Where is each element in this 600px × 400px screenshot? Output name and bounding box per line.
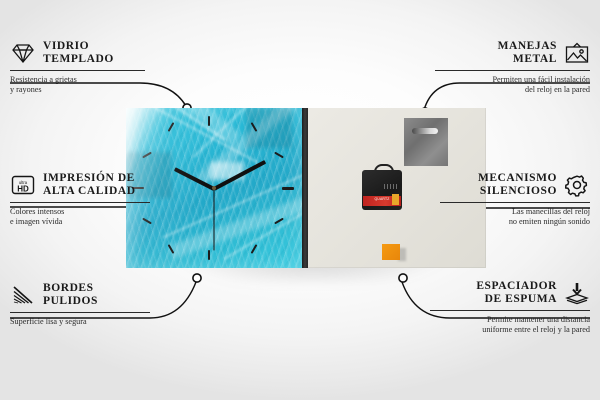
feature-title-line1: BORDES — [43, 282, 94, 294]
feature-title-line2: TEMPLADO — [43, 53, 114, 65]
feature-title-line2: ALTA CALIDAD — [43, 185, 136, 197]
mechanism-vents — [384, 184, 398, 189]
feature-vidrio-templado: VIDRIO TEMPLADO Resistencia a grietas y … — [10, 40, 145, 96]
feature-title-line1: MANEJAS — [498, 40, 557, 52]
feature-desc-line2: y rayones — [10, 85, 42, 94]
clock-second-hand — [214, 189, 215, 251]
feature-title-line2: PULIDOS — [43, 295, 98, 307]
feature-desc-line2: uniforme entre el reloj y la pared — [482, 325, 590, 334]
clock-center-cap — [212, 186, 216, 190]
feature-desc-line2: no emiten ningún sonido — [509, 217, 590, 226]
feature-desc-line1: Resistencia a grietas — [10, 75, 77, 84]
product-infographic: QUARTZ VIDRIO TEMPLADO Resistencia a — [0, 0, 600, 400]
feature-manejas-metal: MANEJAS METAL Permiten una fácil instala… — [435, 40, 590, 96]
polished-edges-icon — [10, 283, 36, 307]
feature-desc-line1: Colores intensos — [10, 207, 64, 216]
diamond-icon — [10, 41, 36, 65]
picture-hanger-icon — [564, 41, 590, 65]
feature-desc-line2: del reloj en la pared — [525, 85, 590, 94]
product-image: QUARTZ — [126, 108, 488, 274]
feature-desc-line1: Permiten una fácil instalación — [492, 75, 590, 84]
feature-title-line2: METAL — [513, 53, 557, 65]
mechanism-battery-chip — [392, 194, 399, 205]
feature-title-line1: VIDRIO — [43, 40, 89, 52]
foam-spacer — [382, 244, 400, 260]
metal-hanger-plate — [404, 118, 448, 166]
feature-divider — [10, 202, 150, 203]
foam-spacer-icon — [564, 281, 590, 305]
feature-title-line2: DE ESPUMA — [485, 293, 557, 305]
hanger-slot — [412, 128, 438, 134]
feature-bordes-pulidos: BORDES PULIDOS Superficie lisa y segura — [10, 282, 150, 327]
feature-divider — [435, 70, 590, 71]
feature-desc-line1: Permite mantener una distancia — [487, 315, 590, 324]
clock-face — [126, 108, 302, 268]
feature-divider — [430, 310, 590, 311]
feature-impresion-alta-calidad: ultra HD IMPRESIÓN DE ALTA CALIDAD Color… — [10, 172, 150, 228]
svg-text:HD: HD — [17, 184, 29, 193]
feature-divider — [440, 202, 590, 203]
feature-mecanismo-silencioso: MECANISMO SILENCIOSO Las manecillas del … — [440, 172, 590, 228]
feature-desc-line1: Superficie lisa y segura — [10, 317, 87, 326]
feature-divider — [10, 70, 145, 71]
gear-icon — [564, 173, 590, 197]
feature-title-line2: SILENCIOSO — [480, 185, 557, 197]
feature-title-line1: MECANISMO — [478, 172, 557, 184]
feature-title-line1: ESPACIADOR — [476, 280, 557, 292]
feature-desc-line2: e imagen vívida — [10, 217, 62, 226]
feature-title-line1: IMPRESIÓN DE — [43, 172, 135, 184]
feature-espaciador-espuma: ESPACIADOR DE ESPUMA Permite mantener un… — [430, 280, 590, 336]
ultra-hd-icon: ultra HD — [10, 173, 36, 197]
feature-divider — [10, 312, 150, 313]
feature-desc-line1: Las manecillas del reloj — [512, 207, 590, 216]
